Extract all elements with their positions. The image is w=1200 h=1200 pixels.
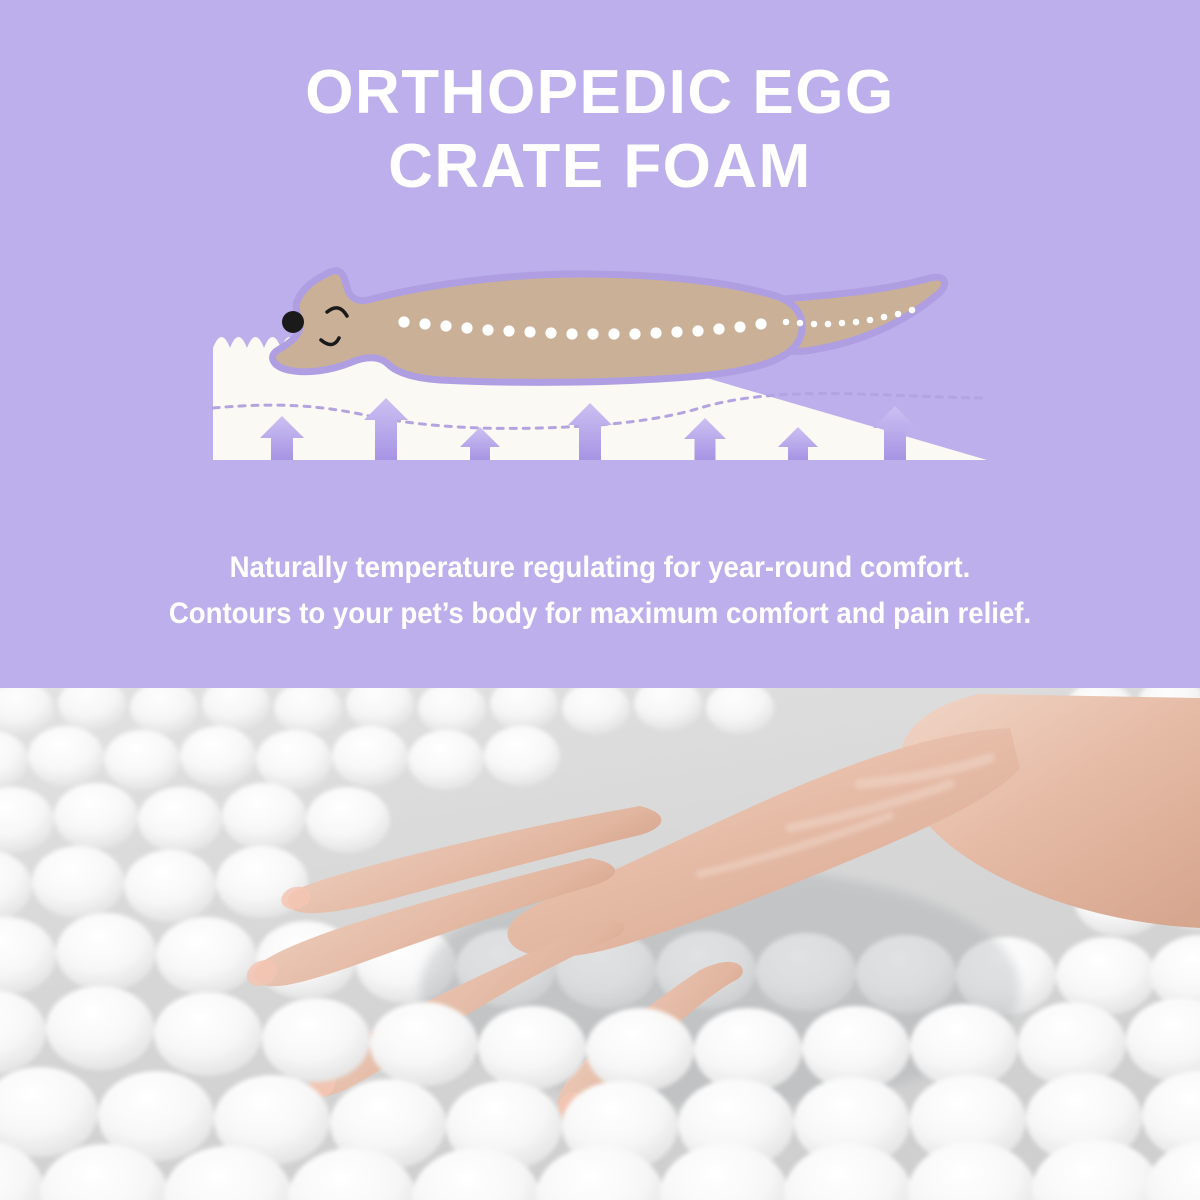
dog-on-foam-illustration (0, 230, 1200, 480)
hero-panel: ORTHOPEDIC EGG CRATE FOAM (0, 0, 1200, 688)
headline-line-1: ORTHOPEDIC EGG (0, 56, 1200, 130)
dog-nose-icon (282, 311, 304, 333)
page-title: ORTHOPEDIC EGG CRATE FOAM (0, 56, 1200, 204)
benefit-copy: Naturally temperature regulating for yea… (0, 545, 1200, 637)
foam-baseline (0, 460, 1200, 480)
headline-line-2: CRATE FOAM (0, 130, 1200, 204)
benefit-line-2: Contours to your pet’s body for maximum … (48, 591, 1152, 637)
infographic-page: ORTHOPEDIC EGG CRATE FOAM (0, 0, 1200, 1200)
benefit-line-1: Naturally temperature regulating for yea… (48, 545, 1152, 591)
foam-photo (0, 688, 1200, 1200)
